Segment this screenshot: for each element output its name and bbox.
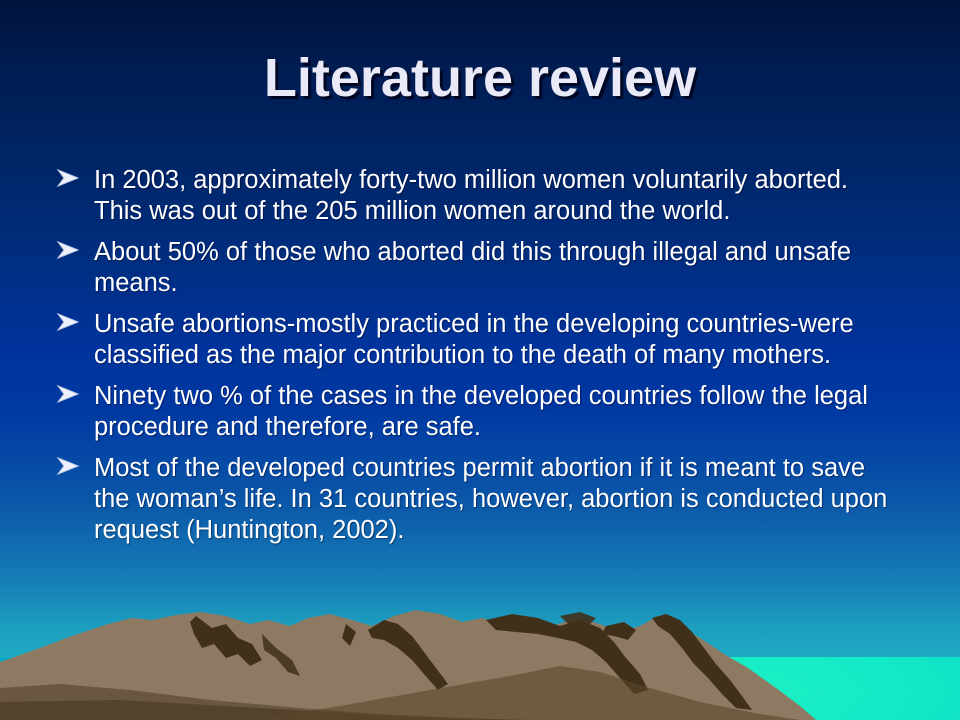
- list-item-text: Ninety two % of the cases in the develop…: [94, 381, 897, 443]
- list-item-text: Unsafe abortions-mostly practiced in the…: [94, 309, 897, 371]
- list-item-text: About 50% of those who aborted did this …: [94, 237, 897, 299]
- list-item: Ninety two % of the cases in the develop…: [52, 381, 897, 443]
- list-item-text: In 2003, approximately forty-two million…: [94, 165, 897, 227]
- presentation-slide: Literature review In 2003, approximately…: [0, 0, 960, 720]
- bullet-list: In 2003, approximately forty-two million…: [52, 165, 897, 556]
- list-item: Most of the developed countries permit a…: [52, 453, 897, 546]
- arrowhead-bullet-icon: [56, 382, 84, 410]
- arrowhead-bullet-icon: [56, 238, 84, 266]
- list-item-text: Most of the developed countries permit a…: [94, 453, 897, 546]
- arrowhead-bullet-icon: [56, 310, 84, 338]
- mountain-range-graphic: [0, 610, 960, 720]
- arrowhead-bullet-icon: [56, 454, 84, 482]
- page-title: Literature review: [0, 50, 960, 107]
- list-item: About 50% of those who aborted did this …: [52, 237, 897, 299]
- list-item: In 2003, approximately forty-two million…: [52, 165, 897, 227]
- list-item: Unsafe abortions-mostly practiced in the…: [52, 309, 897, 371]
- arrowhead-bullet-icon: [56, 166, 84, 194]
